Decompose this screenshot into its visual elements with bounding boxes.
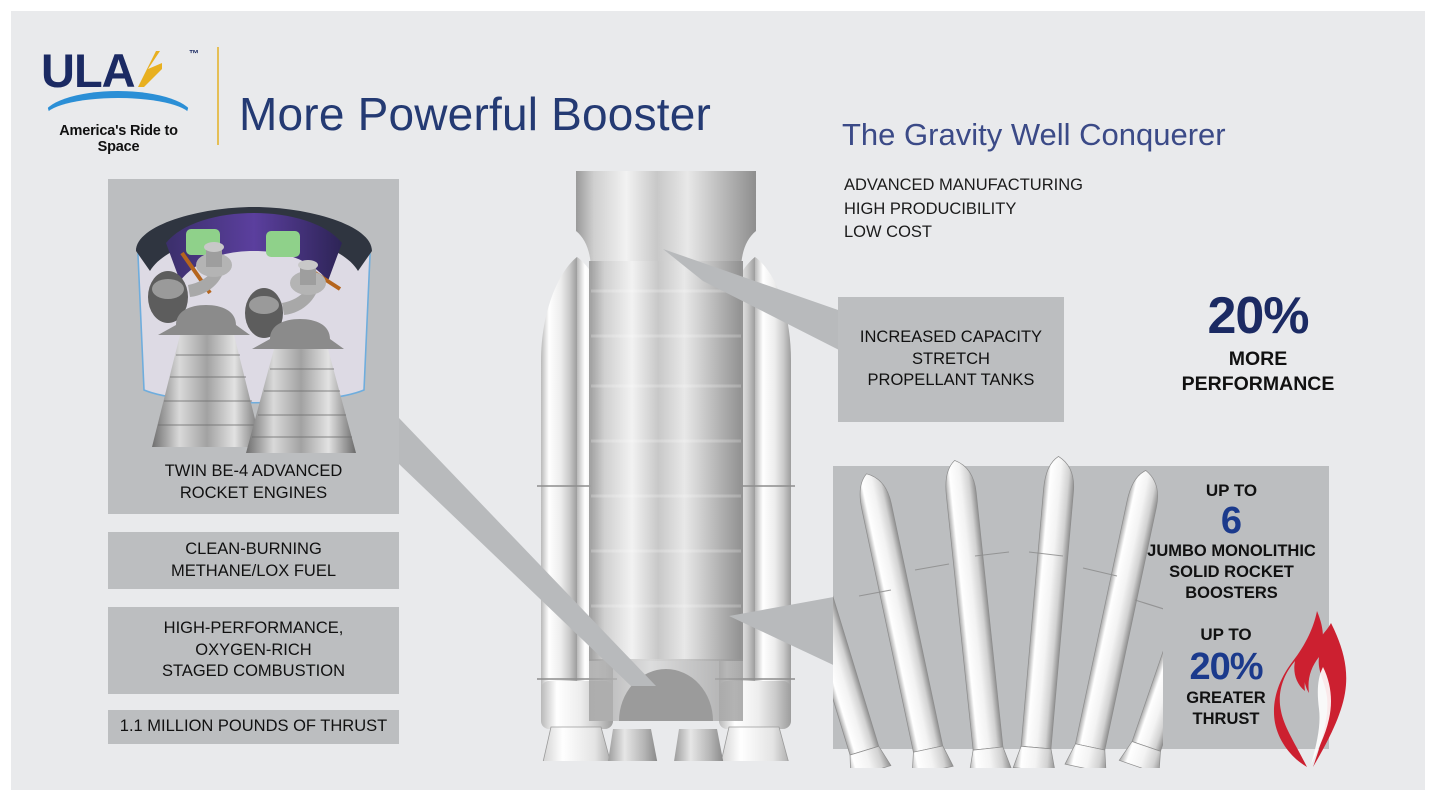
srb-count-stat: UP TO 6 JUMBO MONOLITHIC SOLID ROCKET BO… <box>1144 480 1319 604</box>
performance-label-line1: MORE <box>1142 347 1374 372</box>
subtitle-bullet-list: ADVANCED MANUFACTURING HIGH PRODUCIBILIT… <box>844 174 1083 245</box>
logo-tagline: America's Ride to Space <box>41 123 196 155</box>
bullet-item: LOW COST <box>844 221 1083 245</box>
slide-canvas: ULA ™ America's Ride to Space More Power… <box>11 11 1425 790</box>
bullet-item: HIGH PRODUCIBILITY <box>844 198 1083 222</box>
feature-box-thrust: 1.1 MILLION POUNDS OF THRUST <box>108 710 399 744</box>
arrow-to-tanks-callout <box>651 241 851 371</box>
tanks-line2: STRETCH <box>860 349 1042 371</box>
be4-engine-illustration <box>114 185 393 457</box>
fuel-line1: CLEAN-BURNING <box>171 539 336 561</box>
logo-a-swoop-icon <box>136 49 166 89</box>
srb-desc-line3: BOOSTERS <box>1144 583 1319 604</box>
page-title: More Powerful Booster <box>239 87 711 141</box>
cycle-line1: HIGH-PERFORMANCE, <box>162 618 345 640</box>
flame-icon <box>1273 609 1351 769</box>
performance-value: 20% <box>1142 289 1374 343</box>
cycle-line2: OXYGEN-RICH <box>162 640 345 662</box>
fuel-line2: METHANE/LOX FUEL <box>171 561 336 583</box>
header-divider <box>217 47 219 145</box>
callout-propellant-tanks: INCREASED CAPACITY STRETCH PROPELLANT TA… <box>838 297 1064 422</box>
feature-box-combustion: HIGH-PERFORMANCE, OXYGEN-RICH STAGED COM… <box>108 607 399 694</box>
engine-caption-line1: TWIN BE-4 ADVANCED <box>108 461 399 483</box>
srb-panel: UP TO 6 JUMBO MONOLITHIC SOLID ROCKET BO… <box>833 466 1329 749</box>
tanks-line3: PROPELLANT TANKS <box>860 370 1042 392</box>
srb-up-to: UP TO <box>1144 480 1319 501</box>
srb-count: 6 <box>1144 501 1319 541</box>
bullet-item: ADVANCED MANUFACTURING <box>844 174 1083 198</box>
cycle-line3: STAGED COMBUSTION <box>162 661 345 683</box>
engine-caption-line2: ROCKET ENGINES <box>108 483 399 505</box>
srb-desc-line2: SOLID ROCKET <box>1144 562 1319 583</box>
logo-wordmark: ULA ™ <box>41 43 196 95</box>
srb-desc-line1: JUMBO MONOLITHIC <box>1144 541 1319 562</box>
engine-callout-panel: TWIN BE-4 ADVANCED ROCKET ENGINES <box>108 179 399 514</box>
logo-trademark: ™ <box>189 49 198 60</box>
stat-more-performance: 20% MORE PERFORMANCE <box>1142 289 1374 397</box>
solid-rocket-boosters-illustration <box>833 448 1163 768</box>
thrust-line1: 1.1 MILLION POUNDS OF THRUST <box>120 716 387 738</box>
engine-caption: TWIN BE-4 ADVANCED ROCKET ENGINES <box>108 461 399 504</box>
performance-label-line2: PERFORMANCE <box>1142 372 1374 397</box>
section-subtitle: The Gravity Well Conquerer <box>842 117 1226 153</box>
ula-logo: ULA ™ America's Ride to Space <box>41 39 196 147</box>
logo-text: ULA <box>41 44 135 97</box>
feature-box-fuel: CLEAN-BURNING METHANE/LOX FUEL <box>108 532 399 589</box>
tanks-line1: INCREASED CAPACITY <box>860 327 1042 349</box>
arrow-to-engines-callout <box>381 396 671 696</box>
